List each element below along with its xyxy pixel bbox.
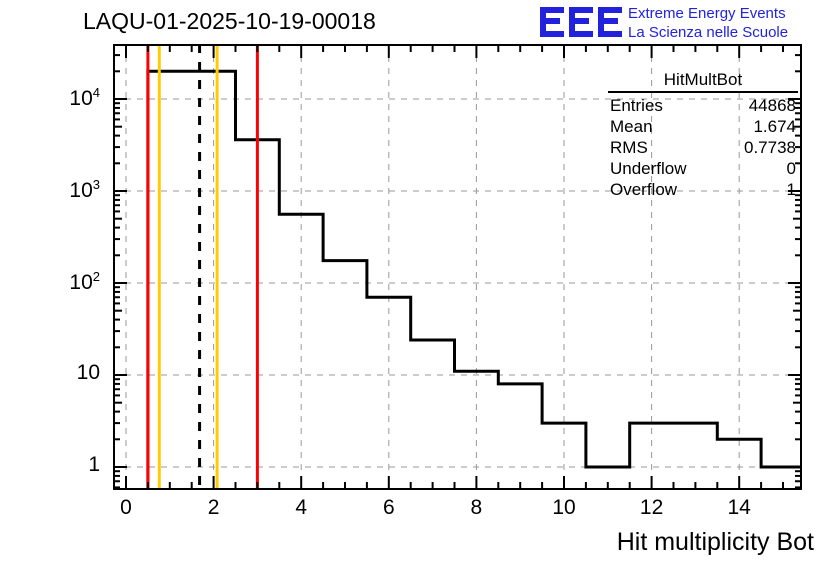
stats-row-value: 1 — [787, 179, 796, 200]
stats-title: HitMultBot — [608, 70, 798, 93]
stats-row-value: 0.7738 — [744, 137, 796, 158]
y-tick-label: 102 — [40, 269, 100, 295]
stats-row-value: 44868 — [749, 95, 796, 116]
stats-box: HitMultBot Entries44868Mean1.674RMS0.773… — [604, 70, 802, 206]
stats-row: Underflow0 — [604, 158, 802, 179]
stats-row-key: Entries — [610, 95, 663, 116]
eee-logo-line2: La Scienza nelle Scuole — [628, 23, 834, 42]
y-tick-label: 1 — [40, 453, 100, 477]
x-tick-label: 14 — [709, 496, 769, 520]
x-axis-title: Hit multiplicity Bot — [617, 528, 814, 557]
stats-row-key: Overflow — [610, 179, 677, 200]
stats-row: Entries44868 — [604, 95, 802, 116]
x-tick-label: 12 — [622, 496, 682, 520]
eee-logo: Extreme Energy Events La Scienza nelle S… — [540, 4, 832, 42]
x-tick-label: 6 — [359, 496, 419, 520]
x-tick-label: 2 — [184, 496, 244, 520]
x-tick-label: 10 — [534, 496, 594, 520]
page-title: LAQU-01-2025-10-19-00018 — [83, 8, 376, 35]
stats-row: RMS0.7738 — [604, 137, 802, 158]
y-tick-label: 104 — [40, 85, 100, 111]
stats-rows: Entries44868Mean1.674RMS0.7738Underflow0… — [604, 95, 802, 200]
y-tick-label: 103 — [40, 177, 100, 203]
stats-row: Mean1.674 — [604, 116, 802, 137]
y-tick-label: 10 — [40, 361, 100, 385]
x-tick-label: 8 — [446, 496, 506, 520]
eee-logo-line1: Extreme Energy Events — [628, 4, 834, 23]
stats-row-value: 0 — [787, 158, 796, 179]
eee-logo-text: Extreme Energy Events La Scienza nelle S… — [628, 4, 834, 42]
stats-row-value: 1.674 — [753, 116, 796, 137]
stats-row-key: Mean — [610, 116, 653, 137]
stats-row: Overflow1 — [604, 179, 802, 200]
eee-logo-mark — [540, 5, 624, 39]
stats-row-key: RMS — [610, 137, 648, 158]
root-canvas: LAQU-01-2025-10-19-00018 Extreme Energy … — [0, 0, 836, 572]
x-tick-label: 0 — [96, 496, 156, 520]
x-tick-label: 4 — [271, 496, 331, 520]
stats-row-key: Underflow — [610, 158, 687, 179]
